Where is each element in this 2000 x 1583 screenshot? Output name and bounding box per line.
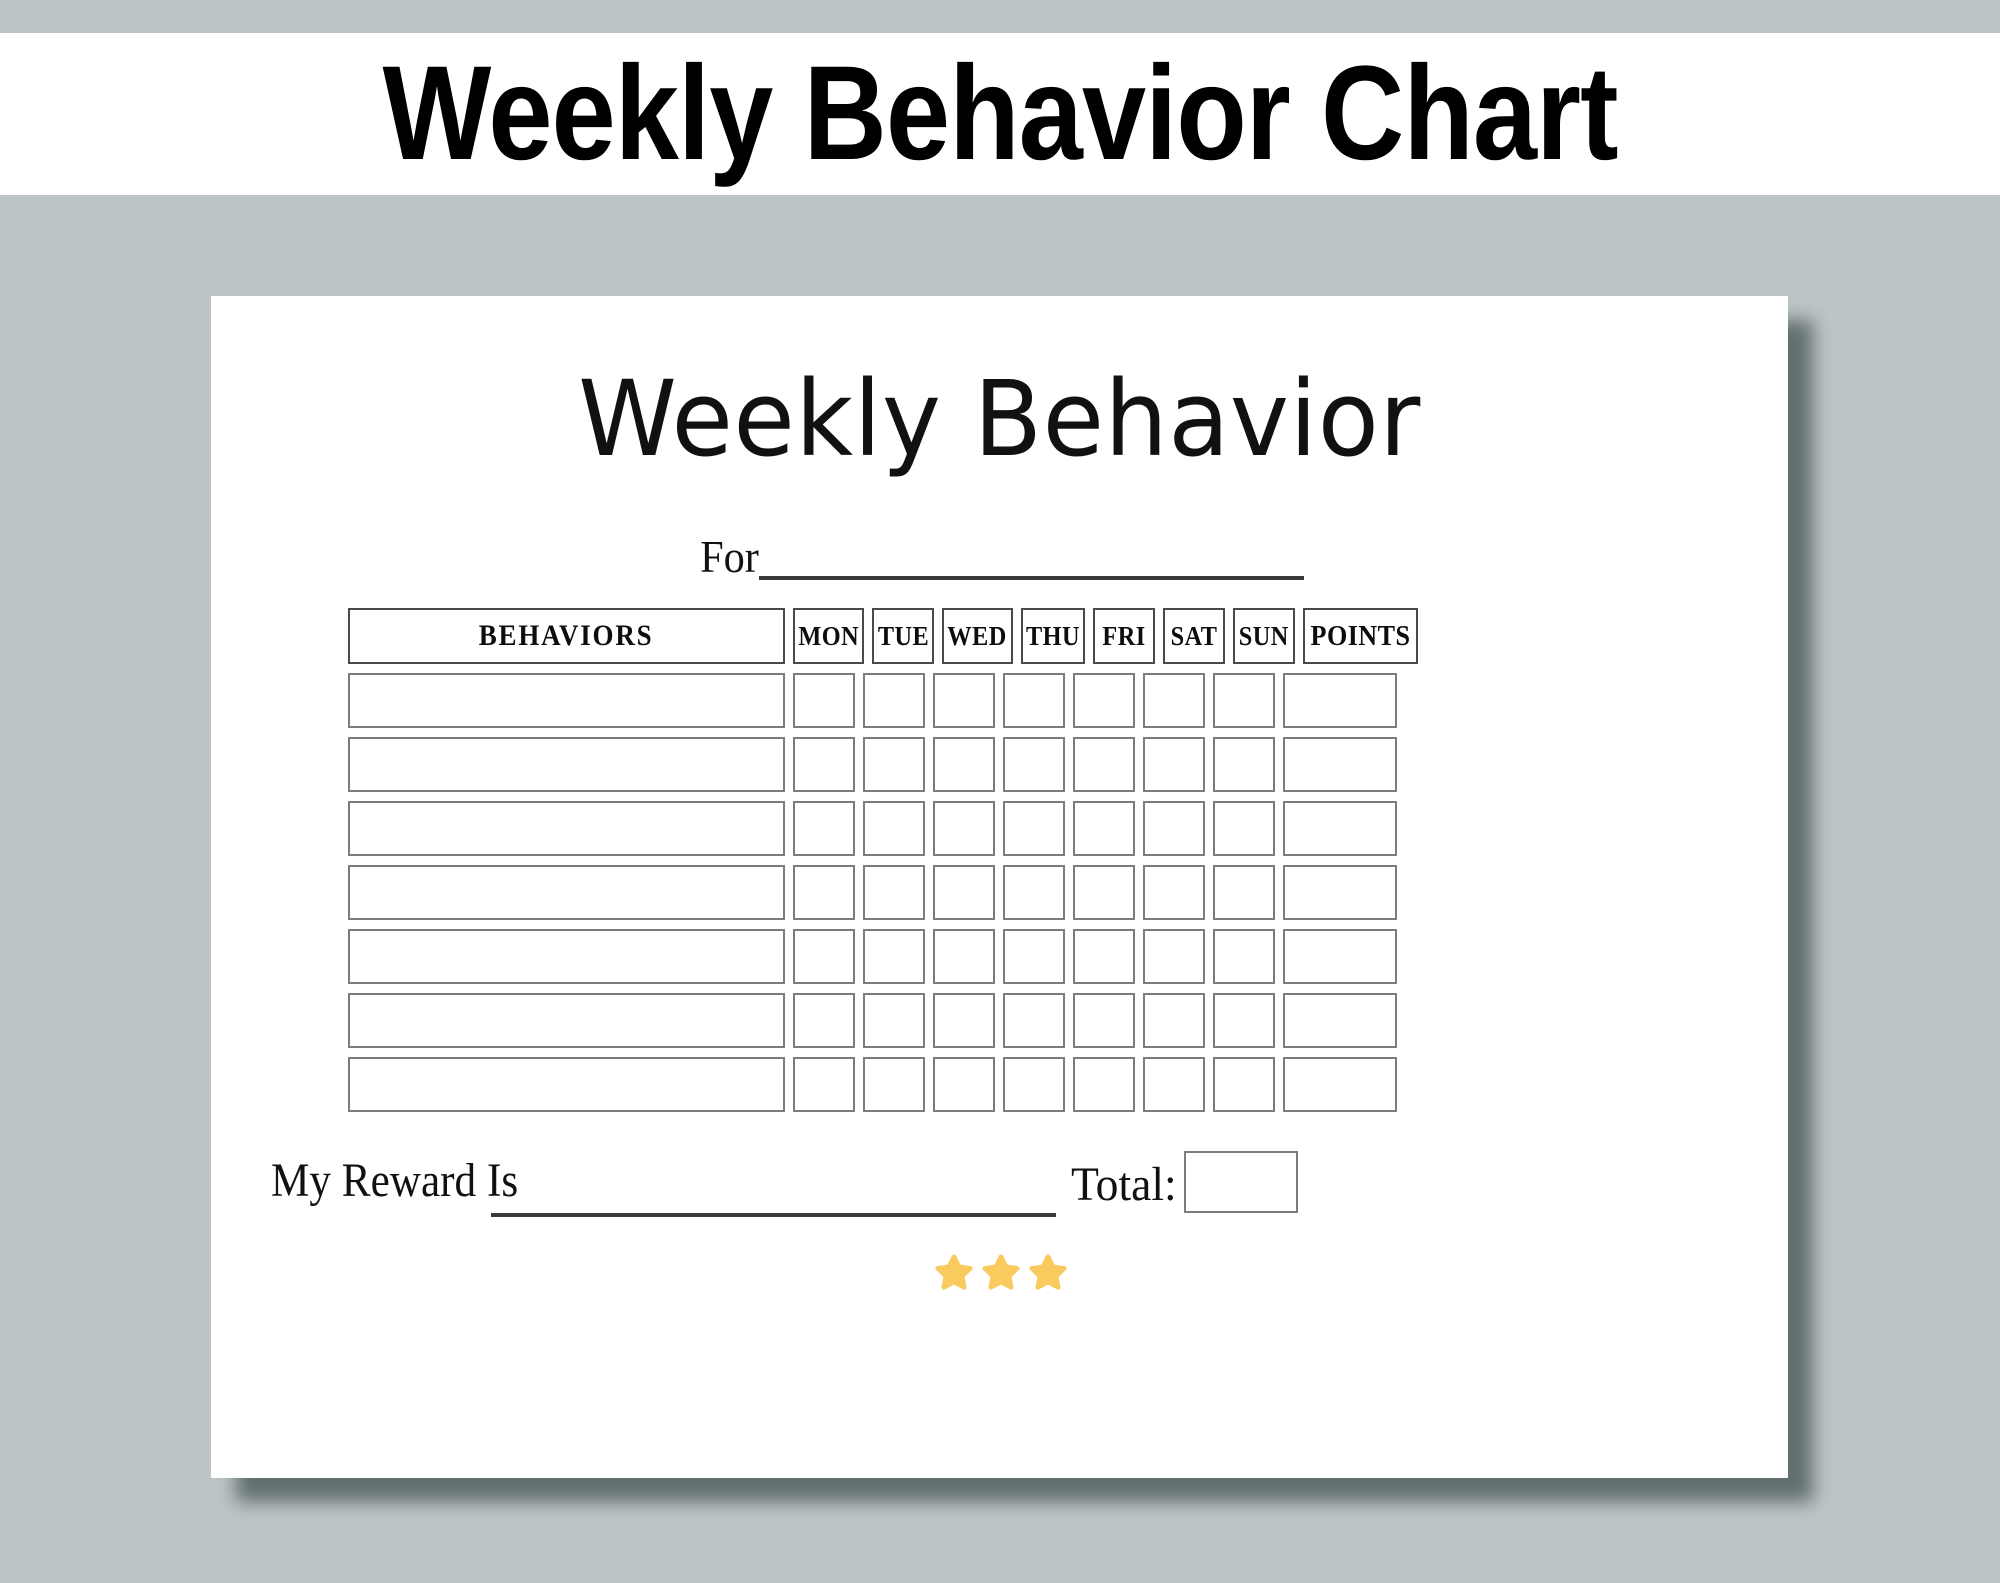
- header-cell-behaviors: BEHAVIORS: [348, 608, 785, 664]
- day-check-cell-mon[interactable]: [793, 993, 855, 1048]
- day-check-cell-sat[interactable]: [1143, 1057, 1205, 1112]
- day-check-cell-mon[interactable]: [793, 673, 855, 728]
- header-cell-sat: SAT: [1163, 608, 1225, 664]
- table-row: [348, 1057, 1655, 1112]
- day-check-cell-thu[interactable]: [1003, 673, 1065, 728]
- day-check-cell-fri[interactable]: [1073, 801, 1135, 856]
- day-check-cell-thu[interactable]: [1003, 929, 1065, 984]
- table-row: [348, 929, 1655, 984]
- day-check-cell-sat[interactable]: [1143, 865, 1205, 920]
- day-check-cell-fri[interactable]: [1073, 865, 1135, 920]
- reward-label: My Reward Is: [271, 1157, 518, 1205]
- day-check-cell-sat[interactable]: [1143, 737, 1205, 792]
- day-check-cell-thu[interactable]: [1003, 865, 1065, 920]
- day-check-cell-thu[interactable]: [1003, 801, 1065, 856]
- day-check-cell-sat[interactable]: [1143, 673, 1205, 728]
- chart-footer: My Reward Is Total:: [211, 1151, 1788, 1261]
- points-input-cell[interactable]: [1283, 993, 1397, 1048]
- day-check-cell-tue[interactable]: [863, 737, 925, 792]
- behavior-input-cell[interactable]: [348, 801, 785, 856]
- for-name-blank-line[interactable]: [759, 576, 1304, 580]
- day-check-cell-mon[interactable]: [793, 801, 855, 856]
- star-icon: [1027, 1251, 1069, 1293]
- table-row: [348, 993, 1655, 1048]
- day-check-cell-wed[interactable]: [933, 1057, 995, 1112]
- header-cell-fri: FRI: [1093, 608, 1155, 664]
- table-body: [348, 673, 1655, 1112]
- header-label-sat: SAT: [1170, 623, 1217, 650]
- day-check-cell-wed[interactable]: [933, 993, 995, 1048]
- behavior-table: BEHAVIORS MON TUE WED THU FRI SAT SUN: [348, 608, 1655, 1121]
- day-check-cell-mon[interactable]: [793, 929, 855, 984]
- reward-blank-line[interactable]: [491, 1213, 1056, 1217]
- star-decoration-row: [211, 1251, 1788, 1293]
- header-label-fri: FRI: [1102, 623, 1145, 650]
- day-check-cell-thu[interactable]: [1003, 737, 1065, 792]
- day-check-cell-sun[interactable]: [1213, 673, 1275, 728]
- star-icon: [933, 1251, 975, 1293]
- day-check-cell-wed[interactable]: [933, 929, 995, 984]
- day-check-cell-tue[interactable]: [863, 673, 925, 728]
- day-check-cell-sun[interactable]: [1213, 993, 1275, 1048]
- day-check-cell-tue[interactable]: [863, 801, 925, 856]
- day-check-cell-mon[interactable]: [793, 865, 855, 920]
- header-cell-thu: THU: [1021, 608, 1085, 664]
- day-check-cell-sat[interactable]: [1143, 929, 1205, 984]
- day-check-cell-mon[interactable]: [793, 737, 855, 792]
- day-check-cell-fri[interactable]: [1073, 1057, 1135, 1112]
- header-label-thu: THU: [1026, 623, 1080, 650]
- day-check-cell-tue[interactable]: [863, 929, 925, 984]
- header-cell-sun: SUN: [1233, 608, 1295, 664]
- day-check-cell-fri[interactable]: [1073, 993, 1135, 1048]
- day-check-cell-fri[interactable]: [1073, 737, 1135, 792]
- day-check-cell-sat[interactable]: [1143, 993, 1205, 1048]
- behavior-input-cell[interactable]: [348, 993, 785, 1048]
- day-check-cell-sun[interactable]: [1213, 737, 1275, 792]
- day-check-cell-tue[interactable]: [863, 993, 925, 1048]
- header-cell-tue: TUE: [872, 608, 934, 664]
- day-check-cell-sat[interactable]: [1143, 801, 1205, 856]
- table-row: [348, 865, 1655, 920]
- star-icon: [980, 1251, 1022, 1293]
- header-label-points: POINTS: [1310, 622, 1410, 651]
- day-check-cell-wed[interactable]: [933, 865, 995, 920]
- for-label: For: [700, 534, 759, 584]
- for-name-row: For: [211, 534, 1788, 584]
- total-label: Total:: [1071, 1161, 1177, 1209]
- header-cell-mon: MON: [793, 608, 864, 664]
- points-input-cell[interactable]: [1283, 929, 1397, 984]
- table-row: [348, 673, 1655, 728]
- total-value-box[interactable]: [1184, 1151, 1298, 1213]
- day-check-cell-sun[interactable]: [1213, 929, 1275, 984]
- behavior-input-cell[interactable]: [348, 737, 785, 792]
- behavior-input-cell[interactable]: [348, 929, 785, 984]
- day-check-cell-wed[interactable]: [933, 673, 995, 728]
- header-label-sun: SUN: [1239, 623, 1289, 650]
- points-input-cell[interactable]: [1283, 673, 1397, 728]
- header-label-wed: WED: [948, 623, 1007, 650]
- day-check-cell-sun[interactable]: [1213, 1057, 1275, 1112]
- page-banner: Weekly Behavior Chart: [0, 33, 2000, 195]
- day-check-cell-sun[interactable]: [1213, 801, 1275, 856]
- day-check-cell-fri[interactable]: [1073, 929, 1135, 984]
- day-check-cell-mon[interactable]: [793, 1057, 855, 1112]
- day-check-cell-wed[interactable]: [933, 737, 995, 792]
- header-label-mon: MON: [798, 623, 859, 650]
- header-label-tue: TUE: [878, 623, 929, 650]
- banner-title: Weekly Behavior Chart: [382, 50, 1617, 177]
- header-label-behaviors: BEHAVIORS: [479, 621, 654, 651]
- day-check-cell-thu[interactable]: [1003, 1057, 1065, 1112]
- printable-chart-card: Weekly Behavior For BEHAVIORS MON TUE WE…: [211, 296, 1788, 1478]
- day-check-cell-thu[interactable]: [1003, 993, 1065, 1048]
- points-input-cell[interactable]: [1283, 1057, 1397, 1112]
- behavior-input-cell[interactable]: [348, 1057, 785, 1112]
- header-cell-points: POINTS: [1303, 608, 1418, 664]
- table-row: [348, 737, 1655, 792]
- header-cell-wed: WED: [942, 608, 1012, 664]
- day-check-cell-tue[interactable]: [863, 1057, 925, 1112]
- points-input-cell[interactable]: [1283, 801, 1397, 856]
- sheet-title: Weekly Behavior: [243, 358, 1757, 481]
- day-check-cell-fri[interactable]: [1073, 673, 1135, 728]
- day-check-cell-sun[interactable]: [1213, 865, 1275, 920]
- behavior-input-cell[interactable]: [348, 865, 785, 920]
- behavior-input-cell[interactable]: [348, 673, 785, 728]
- points-input-cell[interactable]: [1283, 865, 1397, 920]
- table-row: [348, 801, 1655, 856]
- day-check-cell-tue[interactable]: [863, 865, 925, 920]
- table-header-row: BEHAVIORS MON TUE WED THU FRI SAT SUN: [348, 608, 1655, 664]
- day-check-cell-wed[interactable]: [933, 801, 995, 856]
- points-input-cell[interactable]: [1283, 737, 1397, 792]
